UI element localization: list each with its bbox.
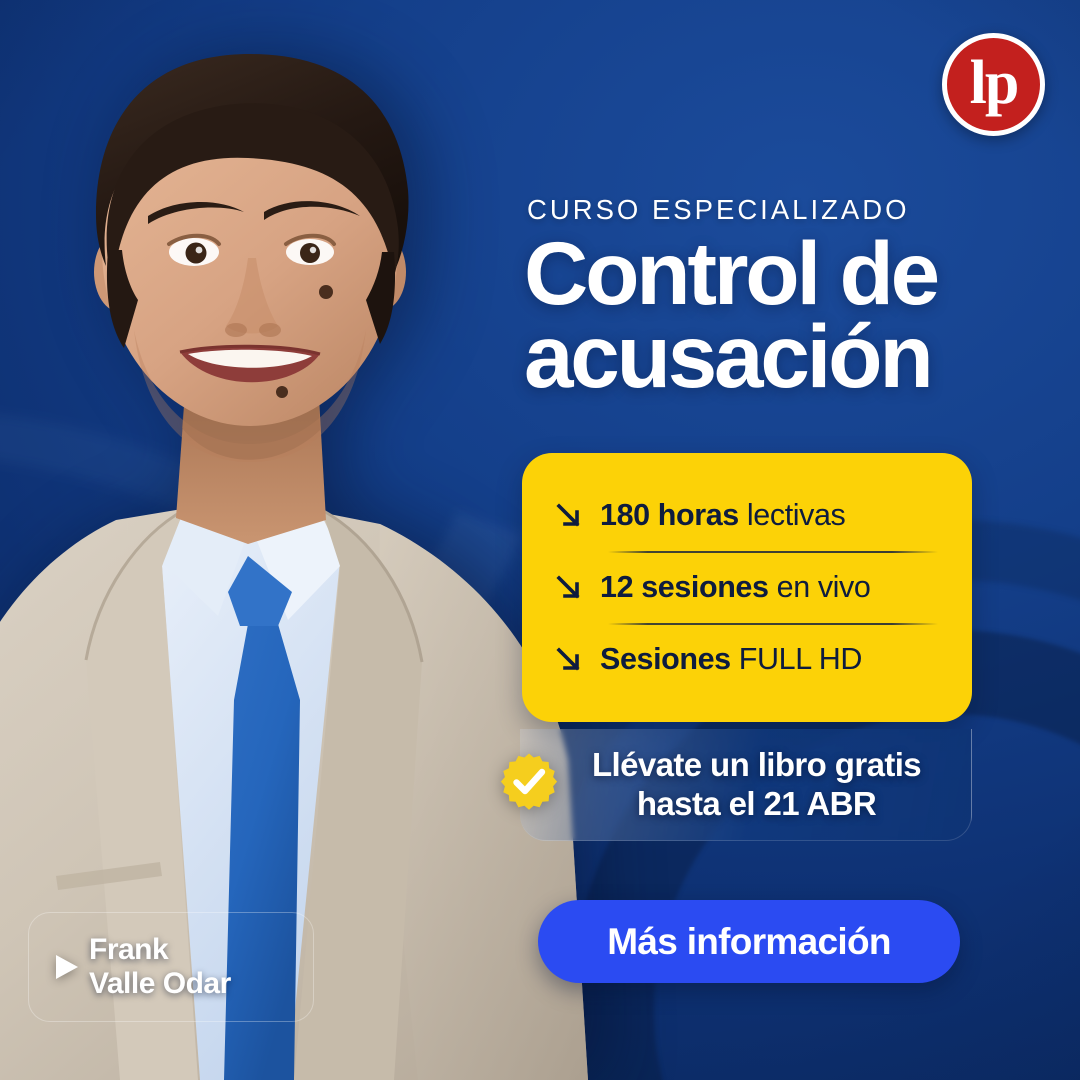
page-title: Control de acusación	[524, 232, 1044, 398]
mas-informacion-button[interactable]: Más información	[538, 900, 960, 983]
promo-line-2: hasta el 21 ABR	[592, 785, 921, 823]
feature-text-sessions: 12 sesiones en vivo	[600, 570, 870, 605]
feature-bold-quality: Sesiones	[600, 642, 731, 676]
speaker-name-panel: Frank Valle Odar	[28, 912, 314, 1022]
feature-row-quality: Sesiones FULL HD	[552, 625, 946, 695]
logo-text: lp	[970, 52, 1018, 114]
promo-banner: Llévate un libro gratis hasta el 21 ABR	[520, 729, 972, 841]
lp-circle-logo[interactable]: lp	[942, 33, 1045, 136]
speaker-last-name: Valle Odar	[89, 967, 231, 1001]
arrow-down-right-icon	[554, 573, 600, 603]
check-badge-icon	[499, 752, 559, 812]
features-card: 180 horas lectivas 12 sesiones en vivo S…	[522, 453, 972, 722]
title-line-1: Control de	[524, 232, 1044, 315]
speaker-name: Frank Valle Odar	[89, 933, 231, 1001]
play-triangle-icon	[43, 950, 89, 984]
feature-row-sessions: 12 sesiones en vivo	[552, 553, 946, 623]
feature-row-hours: 180 horas lectivas	[552, 481, 946, 551]
speaker-first-name: Frank	[89, 933, 231, 967]
arrow-down-right-icon	[554, 645, 600, 675]
feature-bold-sessions: 12 sesiones	[600, 570, 769, 604]
feature-rest-hours: lectivas	[739, 498, 846, 532]
feature-text-quality: Sesiones FULL HD	[600, 642, 862, 677]
arrow-down-right-icon	[554, 501, 600, 531]
promo-line-1: Llévate un libro gratis	[592, 746, 921, 784]
feature-rest-sessions: en vivo	[769, 570, 871, 604]
promo-poster: lp CURSO ESPECIALIZADO Control de acusac…	[0, 0, 1080, 1080]
promo-banner-text: Llévate un libro gratis hasta el 21 ABR	[570, 746, 921, 823]
feature-rest-quality: FULL HD	[731, 642, 862, 676]
feature-bold-hours: 180 horas	[600, 498, 739, 532]
title-line-2: acusación	[524, 315, 1044, 398]
feature-text-hours: 180 horas lectivas	[600, 498, 845, 533]
course-eyebrow-label: CURSO ESPECIALIZADO	[527, 194, 910, 226]
